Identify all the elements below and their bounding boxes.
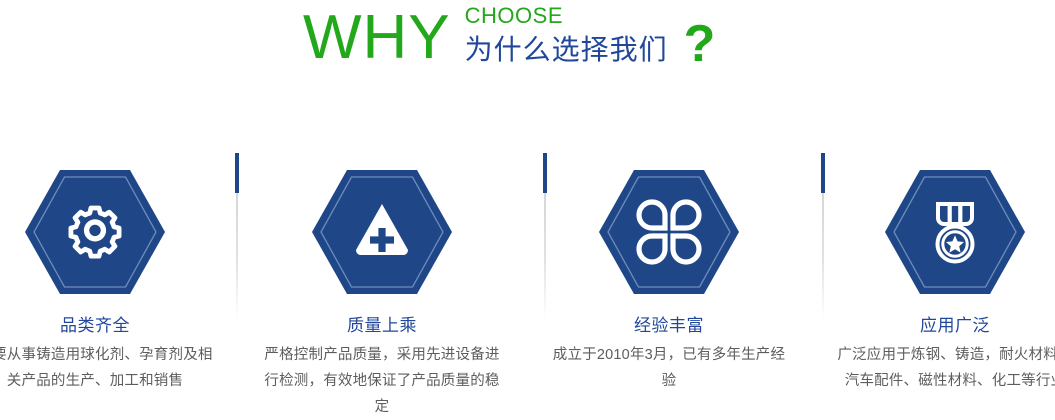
feature-description: 成立于2010年3月，已有多年生产经验 [548, 342, 790, 394]
header-subtitle-chinese: 为什么选择我们 [465, 32, 668, 68]
feature-title: 质量上乘 [249, 315, 515, 337]
clover-icon [599, 170, 739, 294]
header-why-text: WHY [303, 2, 451, 74]
header-text-stack: CHOOSE 为什么选择我们 [465, 4, 668, 68]
feature-column-1[interactable]: 品类齐全 主要从事铸造用球化剂、孕育剂及相关产品的生产、加工和销售 [0, 150, 228, 416]
feature-column-3[interactable]: 经验丰富 成立于2010年3月，已有多年生产经验 [536, 150, 802, 416]
feature-title: 品类齐全 [0, 315, 228, 337]
feature-description: 广泛应用于炼钢、铸造，耐火材料、汽车配件、磁性材料、化工等行业 [834, 342, 1055, 394]
triangle-plus-icon [312, 170, 452, 294]
feature-title: 应用广泛 [822, 315, 1055, 337]
feature-description: 严格控制产品质量，采用先进设备进行检测，有效地保证了产品质量的稳定 [261, 342, 503, 420]
hexagon-badge [312, 170, 452, 294]
header-question-mark: ? [684, 16, 716, 72]
feature-column-4[interactable]: 应用广泛 广泛应用于炼钢、铸造，耐火材料、汽车配件、磁性材料、化工等行业 [822, 150, 1055, 416]
section-header: WHY CHOOSE 为什么选择我们 ? [0, 0, 1055, 86]
feature-columns: 品类齐全 主要从事铸造用球化剂、孕育剂及相关产品的生产、加工和销售 质量上乘 [0, 150, 1055, 416]
hexagon-badge [25, 170, 165, 294]
hexagon-badge [885, 170, 1025, 294]
feature-description: 主要从事铸造用球化剂、孕育剂及相关产品的生产、加工和销售 [0, 342, 216, 394]
hexagon-badge [599, 170, 739, 294]
gear-icon [25, 170, 165, 294]
medal-icon [885, 170, 1025, 294]
feature-column-2[interactable]: 质量上乘 严格控制产品质量，采用先进设备进行检测，有效地保证了产品质量的稳定 [249, 150, 515, 416]
header-choose-text: CHOOSE [465, 4, 668, 28]
feature-title: 经验丰富 [536, 315, 802, 337]
header-title-group: WHY CHOOSE 为什么选择我们 ? [303, 0, 715, 74]
